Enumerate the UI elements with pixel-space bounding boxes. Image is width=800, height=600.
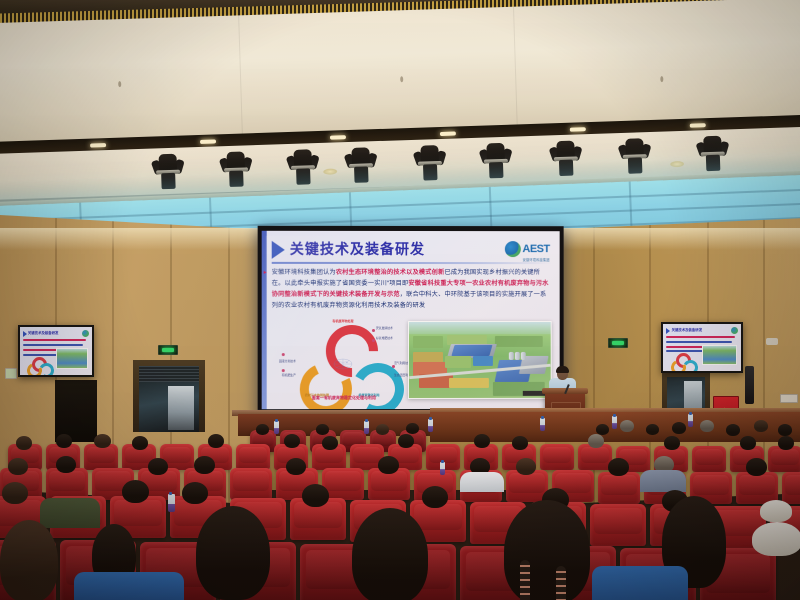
- ring-label-red: 有机废弃物处理: [326, 319, 360, 323]
- audience-head: [352, 508, 428, 600]
- exit-sign-right: [608, 338, 628, 348]
- audience-head: [0, 520, 58, 600]
- stage-spotlight: [621, 138, 648, 179]
- left-monitor-logo-icon: [82, 330, 89, 337]
- stage-spotlight: [416, 145, 443, 186]
- info-note-3: 有机肥生产: [270, 373, 296, 377]
- slide-body-text: 安徽环境科技集团认为农村生态环境整治的技术以及模式创新已成为我国实现乡村振兴的关…: [272, 267, 552, 311]
- braided-hair: [520, 560, 530, 600]
- wall-plate-left: [5, 368, 17, 379]
- info-note-2: 固液分离技术: [270, 359, 296, 363]
- conference-hall-scene: 消防 关键技术及装备研发 关键技术及装备研发: [0, 0, 800, 600]
- wall-sensor: [766, 338, 778, 345]
- info-note-0: 厌氧发酵技术: [376, 326, 406, 330]
- slide-title-rule: [272, 262, 552, 264]
- globe-network-icon: [332, 357, 354, 371]
- aest-wordmark: AEST: [522, 243, 549, 255]
- left-door-louver: [139, 366, 199, 382]
- right-monitor-logo-icon: [731, 327, 738, 334]
- audience-head: [196, 506, 270, 600]
- aest-circular-logo-icon: [505, 241, 521, 257]
- stage-spotlight: [552, 140, 579, 181]
- exit-sign-left: [158, 345, 178, 355]
- aest-logo: AEST 安徽环境科技集团: [505, 240, 550, 258]
- left-monitor-title: 关键技术及装备研发: [28, 330, 59, 335]
- white-cap-foreground: [752, 522, 800, 556]
- slide-bullet-marker: ▸: [264, 269, 267, 276]
- left-wall-monitor: 关键技术及装备研发: [18, 325, 94, 377]
- stage-spotlight: [347, 147, 374, 188]
- slide-infographic: 有机废弃物处理 农村污水协同处理 机废资源化利用 厌氧发酵技术 好氧堆肥技术 固…: [280, 323, 406, 401]
- body-run-0: 安徽环境科技集团认为: [272, 269, 336, 276]
- presenter-hair: [556, 366, 569, 373]
- wall-speaker: [745, 366, 754, 404]
- stage-spotlight: [699, 136, 726, 177]
- slide-header: 关键技术及装备研发 AEST 安徽环境科技集团: [272, 239, 552, 261]
- slide-left-accent-bar: [262, 231, 267, 409]
- main-led-screen: 关键技术及装备研发 AEST 安徽环境科技集团 ▸ 安徽环境科技集团认为农村生态…: [258, 226, 564, 418]
- stage-spotlight: [289, 149, 316, 190]
- right-monitor-aerial-image: [702, 345, 737, 366]
- body-run-1: 农村生态环境整治的技术以及模式创新: [336, 269, 445, 276]
- info-note-1: 好氧堆肥技术: [376, 336, 406, 340]
- stage-spotlight: [155, 154, 182, 195]
- white-cap: [760, 500, 792, 522]
- left-monitor-screen: 关键技术及装备研发: [20, 327, 92, 375]
- right-wall-monitor: 关键技术及装备研发: [661, 322, 743, 373]
- audience-shoulder: [74, 572, 184, 600]
- left-far-door[interactable]: [55, 380, 97, 442]
- left-monitor-aerial-image: [56, 348, 88, 369]
- audience-head: [504, 500, 590, 600]
- infographic-caption: 畜禽一有机废弃物稳定化处理与利用: [294, 395, 394, 401]
- stage-spotlight: [482, 143, 509, 184]
- right-monitor-screen: 关键技术及装备研发: [663, 324, 741, 371]
- audience-shoulder: [592, 566, 688, 600]
- braided-hair: [556, 566, 566, 600]
- stage-spotlight: [222, 151, 249, 192]
- wall-plate-right: [780, 394, 798, 403]
- right-monitor-title: 关键技术及装备研发: [672, 327, 703, 332]
- left-door-daylight: [168, 386, 194, 430]
- chevron-right-icon: [272, 241, 285, 259]
- slide-title: 关键技术及装备研发: [290, 239, 425, 259]
- industrial-park-aerial-render: [408, 321, 552, 399]
- presentation-slide: 关键技术及装备研发 AEST 安徽环境科技集团 ▸ 安徽环境科技集团认为农村生态…: [262, 231, 560, 409]
- body-run-3: 此牵头申报实施了省国资委一实川“项目即: [291, 280, 408, 287]
